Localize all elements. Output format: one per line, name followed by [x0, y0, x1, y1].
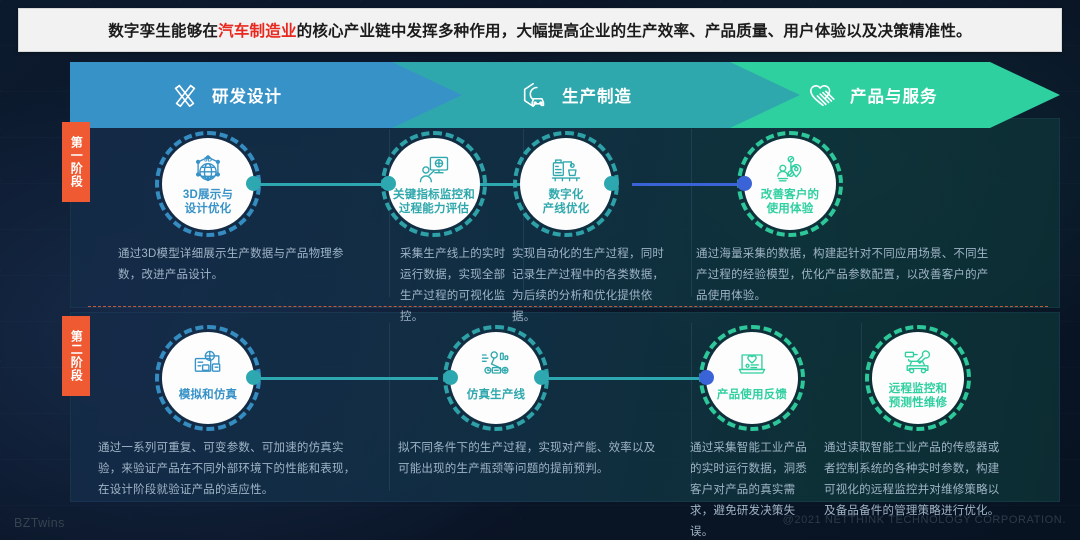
headline-text: 数字孪生能够在汽车制造业的核心产业链中发挥多种作用，大幅提高企业的生产效率、产品… [108, 19, 972, 41]
node-title: 产品使用反馈 [717, 389, 787, 403]
node-bubble: 产品使用反馈 [706, 332, 798, 424]
column-divider [389, 323, 390, 491]
node-bubble: 模拟和仿真 [162, 332, 254, 424]
connector-dot [381, 176, 396, 191]
phase-arrow-rd[interactable]: 研发设计 [70, 62, 470, 128]
node-3d-display[interactable]: 3D 3D展示与 设计优化 [162, 138, 254, 230]
car-manufacturing-icon [520, 80, 550, 110]
connector-dot [604, 176, 619, 191]
phase-arrow-band: 研发设计 生产制造 [70, 62, 1060, 128]
connector-dot [534, 370, 549, 385]
headline-suffix: 的核心产业链中发挥多种作用，大幅提高企业的生产效率、产品质量、用户体验以及决策精… [297, 23, 972, 40]
node-simulated-line[interactable]: 仿真生产线 [450, 332, 542, 424]
svg-text:3D: 3D [204, 156, 213, 163]
headline-highlight: 汽车制造业 [218, 23, 297, 40]
monitor-person-icon [416, 152, 452, 188]
factory-line-icon [548, 152, 584, 188]
node-bubble: 改善客户的 使用体验 [744, 138, 836, 230]
stage-tab-2-label: 第二阶段 [70, 330, 83, 382]
connector-dot [443, 370, 458, 385]
connector-dot [737, 176, 752, 191]
phase-arrow-manufacturing-label: 生产制造 [562, 83, 632, 107]
drafting-tools-icon [170, 80, 200, 110]
connector-dot [246, 370, 261, 385]
connector-dot [246, 176, 261, 191]
phase-arrow-product-service-label: 产品与服务 [850, 83, 938, 107]
phase-arrow-rd-label: 研发设计 [212, 83, 282, 107]
node-title: 模拟和仿真 [179, 389, 238, 403]
handshake-heart-icon [808, 80, 838, 110]
node-description: 通过海量采集的数据，构建起针对不同应用场景、不同生产过程的经验模型，优化产品参数… [696, 244, 996, 307]
node-title: 3D展示与 设计优化 [183, 189, 233, 216]
node-digital-line[interactable]: 数字化 产线优化 [520, 138, 612, 230]
headline-prefix: 数字孪生能够在 [108, 23, 218, 40]
footer-copyright: @2021 NETTHINK TECHNOLOGY CORPORATION. [783, 514, 1066, 526]
stage-tab-1: 第一阶段 [62, 122, 90, 202]
connector-rail [252, 183, 388, 186]
connector-rail [252, 377, 438, 380]
node-title: 仿真生产线 [467, 389, 526, 403]
laptop-heart-icon [734, 346, 770, 382]
node-simulation[interactable]: 模拟和仿真 [162, 332, 254, 424]
connector-dot [699, 370, 714, 385]
node-description: 实现自动化的生产过程，同时记录生产过程中的各类数据，为后续的分析和优化提供依据。 [512, 244, 672, 328]
wrench-car-icon [900, 346, 936, 382]
column-divider [691, 129, 692, 297]
node-description: 通过一系列可重复、可变参数、可加速的仿真实验，来验证产品在不同外部环境下的性能和… [98, 438, 364, 501]
simulation-icon [190, 346, 226, 382]
stage-tab-2: 第二阶段 [62, 316, 90, 396]
node-description: 采集生产线上的实时运行数据，实现全部生产过程的可视化监控。 [400, 244, 510, 328]
stage-tab-1-label: 第一阶段 [70, 136, 83, 188]
node-bubble: 数字化 产线优化 [520, 138, 612, 230]
customer-location-icon [772, 152, 808, 188]
node-kpi-monitoring[interactable]: 关键指标监控和 过程能力评估 [388, 138, 480, 230]
node-product-feedback[interactable]: 产品使用反馈 [706, 332, 798, 424]
3d-globe-icon: 3D [190, 152, 226, 188]
connector-rail [542, 377, 700, 380]
node-bubble: 仿真生产线 [450, 332, 542, 424]
node-bubble: 远程监控和 预测性维修 [872, 332, 964, 424]
node-customer-experience[interactable]: 改善客户的 使用体验 [744, 138, 836, 230]
footer-brand: BZTwins [14, 516, 65, 530]
node-remote-monitoring[interactable]: 远程监控和 预测性维修 [872, 332, 964, 424]
node-description: 通过读取智能工业产品的传感器或者控制系统的各种实时参数，构建可视化的远程监控并对… [824, 438, 1004, 522]
node-description: 拟不同条件下的生产过程，实现对产能、效率以及可能出现的生产瓶颈等问题的提前预判。 [398, 438, 658, 480]
node-title: 远程监控和 预测性维修 [889, 383, 948, 410]
slide-canvas: 数字孪生能够在汽车制造业的核心产业链中发挥多种作用，大幅提高企业的生产效率、产品… [0, 0, 1080, 540]
node-title: 数字化 产线优化 [543, 189, 590, 216]
node-title: 关键指标监控和 过程能力评估 [393, 189, 475, 216]
node-bubble: 关键指标监控和 过程能力评估 [388, 138, 480, 230]
headline-banner: 数字孪生能够在汽车制造业的核心产业链中发挥多种作用，大幅提高企业的生产效率、产品… [18, 8, 1062, 52]
robot-arm-icon [478, 346, 514, 382]
node-title: 改善客户的 使用体验 [761, 189, 820, 216]
node-bubble: 3D 3D展示与 设计优化 [162, 138, 254, 230]
node-description: 通过3D模型详细展示生产数据与产品物理参数，改进产品设计。 [118, 244, 366, 286]
